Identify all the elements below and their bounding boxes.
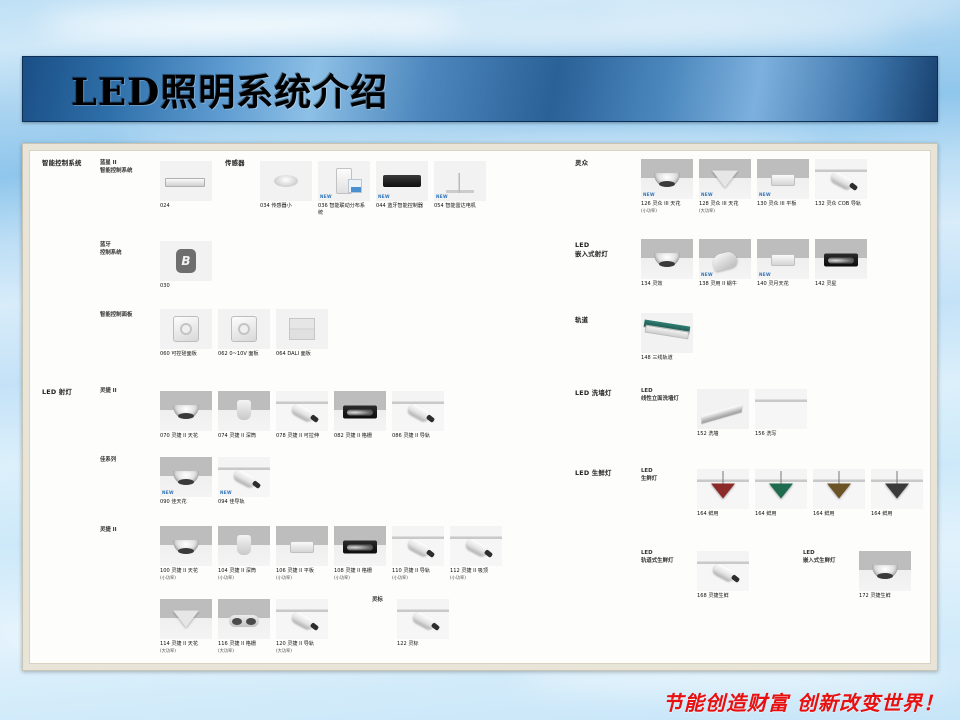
product-thumbnail[interactable] [218, 391, 270, 431]
item-caption: 024 [160, 203, 212, 210]
flat-panel-icon [771, 254, 795, 266]
product-row: 024 [160, 161, 212, 210]
product-thumbnail[interactable] [260, 161, 312, 201]
new-badge: NEW [759, 192, 771, 197]
item-caption: 148 三线轨道 [641, 355, 693, 362]
item-caption: 108 灵捷 II 格栅(小功率) [334, 568, 386, 582]
catalog-item[interactable]: 120 灵捷 II 导轨(大功率) [276, 599, 328, 655]
item-caption: 156 洗写 [755, 431, 807, 438]
downlight-icon [173, 405, 199, 419]
product-row: NEW126 灵众 III 天花(小功率)NEW128 灵众 III 天花(大功… [641, 159, 867, 215]
catalog-item[interactable]: NEW140 灵月天花 [757, 239, 809, 288]
deep-can-icon [237, 535, 251, 555]
catalog-item[interactable]: 070 灵捷 II 天花 [160, 391, 212, 440]
pendant-cord-icon [897, 471, 898, 484]
item-caption: 128 灵众 III 天花(大功率) [699, 201, 751, 215]
footer-slogan: 节能创造财富 创新改变世界！ [663, 687, 944, 716]
item-note: (大功率) [276, 648, 292, 653]
flat-panel-icon [290, 541, 314, 553]
product-thumbnail[interactable] [392, 391, 444, 431]
item-caption: 132 灵众 COB 导轨 [815, 201, 867, 208]
product-thumbnail[interactable]: NEW [434, 161, 486, 201]
product-thumbnail[interactable] [397, 599, 449, 639]
catalog-item[interactable]: 132 灵众 COB 导轨 [815, 159, 867, 215]
item-caption: 100 灵捷 II 天花(小功率) [160, 568, 212, 582]
downlight-icon [173, 471, 199, 485]
catalog-item[interactable]: NEW138 灵用 II 蜗牛 [699, 239, 751, 288]
pendant-lamp-icon [769, 484, 793, 499]
item-caption: 110 灵捷 II 导轨(小功率) [392, 568, 444, 582]
catalog-item[interactable]: 086 灵捷 II 导轨 [392, 391, 444, 440]
catalog-item[interactable]: NEW126 灵众 III 天花(小功率) [641, 159, 693, 215]
item-caption: 106 灵捷 II 平板(小功率) [276, 568, 328, 582]
catalog-item[interactable]: 100 灵捷 II 天花(小功率) [160, 526, 212, 582]
catalog-item[interactable]: 164 鲜用 [755, 469, 807, 518]
catalog-item[interactable]: 152 洗墙 [697, 389, 749, 438]
catalog-item[interactable]: NEW128 灵众 III 天花(大功率) [699, 159, 751, 215]
catalog-item[interactable]: NEW054 智能雷达电机 [434, 161, 486, 217]
item-caption: 064 DALI 面板 [276, 351, 328, 358]
item-note: (大功率) [699, 208, 715, 213]
cloud-decoration [40, 8, 460, 42]
item-caption: 094 佳导轨 [218, 499, 270, 506]
item-caption: 164 鲜用 [755, 511, 807, 518]
catalog-item[interactable]: 122 灵标 [397, 599, 449, 648]
catalog-item[interactable]: 110 灵捷 II 导轨(小功率) [392, 526, 444, 582]
product-thumbnail[interactable] [871, 469, 923, 509]
product-thumbnail[interactable]: NEW [160, 457, 212, 497]
catalog-item[interactable]: NEW094 佳导轨 [218, 457, 270, 506]
track-head-icon [464, 537, 489, 557]
track-head-icon [290, 402, 315, 422]
item-caption: 062 0~10V 面板 [218, 351, 270, 358]
section-label: 智能控制系统 [42, 159, 82, 168]
product-thumbnail[interactable] [334, 526, 386, 566]
track-head-icon [406, 537, 431, 557]
product-row: 164 鲜用164 鲜用164 鲜用164 鲜用 [697, 469, 923, 518]
product-row: 070 灵捷 II 天花074 灵捷 II 深筒078 灵捷 II 可拉伸082… [160, 391, 444, 440]
item-note: (大功率) [218, 648, 234, 653]
product-thumbnail[interactable] [276, 391, 328, 431]
pendant-cord-icon [839, 471, 840, 484]
subsection-label: LED 生鲜灯 [641, 467, 657, 483]
product-thumbnail[interactable] [218, 309, 270, 349]
subsection-label: 智能控制面板 [100, 311, 132, 319]
item-caption: 082 灵捷 II 格栅 [334, 433, 386, 440]
product-thumbnail[interactable] [160, 526, 212, 566]
catalog-item[interactable]: 074 灵捷 II 深筒 [218, 391, 270, 440]
catalog-item[interactable]: 108 灵捷 II 格栅(小功率) [334, 526, 386, 582]
deep-can-icon [237, 400, 251, 420]
pendant-lamp-icon [711, 484, 735, 499]
item-caption: 172 灵捷生鲜 [859, 593, 911, 600]
product-thumbnail[interactable] [160, 161, 212, 201]
cloud-decoration [380, 20, 900, 46]
section-label: LED 射灯 [42, 388, 72, 397]
catalog-left-column: 智能控制系统蓝星 II 智能控制系统024蓝牙 控制系统B030智能控制面板06… [42, 151, 562, 663]
item-caption: 074 灵捷 II 深筒 [218, 433, 270, 440]
section-label: LED 嵌入式射灯 [575, 241, 608, 260]
subsection-label: LED 轨道式生鲜灯 [641, 549, 673, 565]
product-row: B030 [160, 241, 212, 290]
product-row: 134 灵效NEW138 灵用 II 蜗牛NEW140 灵月天花142 灵星 [641, 239, 867, 288]
snail-lamp-icon [711, 250, 738, 271]
item-note: (大功率) [160, 648, 176, 653]
pendant-cord-icon [723, 471, 724, 484]
catalog-item[interactable]: 156 洗写 [755, 389, 807, 438]
item-note: (小功率) [334, 575, 350, 580]
catalog-item[interactable]: 064 DALI 面板 [276, 309, 328, 358]
item-caption: 086 灵捷 II 导轨 [392, 433, 444, 440]
grille-lamp-icon [343, 540, 377, 553]
product-thumbnail[interactable] [334, 391, 386, 431]
screen-icon [348, 179, 362, 193]
item-caption: 078 灵捷 II 可拉伸 [276, 433, 328, 440]
product-row: 034 传感器小NEW036 智能联动分布系统NEW044 蓝牙智能控制器NEW… [260, 161, 486, 217]
product-thumbnail[interactable]: NEW [757, 159, 809, 199]
item-caption: 168 灵捷生鲜 [697, 593, 749, 600]
subsection-label: 蓝牙 控制系统 [100, 241, 122, 257]
subsection-label: LED 线性立面洗墙灯 [641, 387, 679, 403]
cone-lamp-icon [712, 171, 738, 188]
item-caption: 034 传感器小 [260, 203, 312, 210]
grille-lamp-icon [343, 405, 377, 418]
product-row: 152 洗墙156 洗写 [697, 389, 807, 438]
product-thumbnail[interactable] [160, 391, 212, 431]
catalog-item[interactable]: 024 [160, 161, 212, 210]
item-caption: 090 佳天花 [160, 499, 212, 506]
pendant-lamp-icon [827, 484, 851, 499]
catalog-item[interactable]: 168 灵捷生鲜 [697, 551, 749, 600]
new-badge: NEW [436, 194, 448, 199]
new-badge: NEW [162, 490, 174, 495]
product-thumbnail[interactable] [755, 389, 807, 429]
catalog-item[interactable]: 060 可控硅面板 [160, 309, 212, 358]
sensor-icon [274, 175, 298, 187]
catalog-item[interactable]: 114 灵捷 II 天花(大功率) [160, 599, 212, 655]
catalog-item[interactable]: 082 灵捷 II 格栅 [334, 391, 386, 440]
subsection-label: 灵捷 II [100, 387, 117, 395]
item-caption: 112 灵捷 II 吸顶(小功率) [450, 568, 502, 582]
product-thumbnail[interactable] [218, 526, 270, 566]
downlight-icon [654, 253, 680, 267]
cone-lamp-icon [173, 611, 199, 628]
product-thumbnail[interactable] [755, 469, 807, 509]
linear-washer-icon [702, 404, 743, 423]
track-head-icon [711, 562, 736, 582]
knob-icon [180, 323, 192, 335]
new-badge: NEW [759, 272, 771, 277]
catalog-item[interactable]: 142 灵星 [815, 239, 867, 288]
item-caption: 138 灵用 II 蜗牛 [699, 281, 751, 288]
product-thumbnail[interactable] [697, 389, 749, 429]
product-thumbnail[interactable] [276, 309, 328, 349]
catalog-item[interactable]: 034 传感器小 [260, 161, 312, 217]
product-thumbnail[interactable]: NEW [641, 159, 693, 199]
page-title: LED照明系统介绍 [71, 62, 388, 116]
product-thumbnail[interactable]: NEW [757, 239, 809, 279]
product-thumbnail[interactable] [815, 159, 867, 199]
product-row: 122 灵标 [397, 599, 449, 648]
catalog-item[interactable]: 104 灵捷 II 深筒(小功率) [218, 526, 270, 582]
product-thumbnail[interactable] [392, 526, 444, 566]
catalog-item[interactable]: 116 灵捷 II 格栅(大功率) [218, 599, 270, 655]
subsection-label: 佳系列 [100, 456, 116, 464]
product-thumbnail[interactable]: B [160, 241, 212, 281]
controller-box-icon [165, 178, 205, 187]
product-row: NEW090 佳天花NEW094 佳导轨 [160, 457, 270, 506]
cloud-decoration [600, 0, 960, 22]
catalog-sheet: 智能控制系统蓝星 II 智能控制系统024蓝牙 控制系统B030智能控制面板06… [29, 150, 931, 664]
item-caption: 164 鲜用 [871, 511, 923, 518]
product-thumbnail[interactable] [859, 551, 911, 591]
product-thumbnail[interactable] [160, 309, 212, 349]
grille-lamp-icon [824, 253, 858, 266]
new-badge: NEW [643, 192, 655, 197]
product-thumbnail[interactable] [218, 599, 270, 639]
catalog-item[interactable]: NEW036 智能联动分布系统 [318, 161, 370, 217]
product-row: 148 三线轨道 [641, 313, 693, 362]
catalog-item[interactable]: 164 鲜用 [697, 469, 749, 518]
pendant-cord-icon [781, 471, 782, 484]
catalog-item[interactable]: NEW090 佳天花 [160, 457, 212, 506]
subsection-label: LED 嵌入式生鲜灯 [803, 549, 835, 565]
catalog-item[interactable]: 164 鲜用 [813, 469, 865, 518]
product-thumbnail[interactable] [813, 469, 865, 509]
item-note: (小功率) [276, 575, 292, 580]
item-caption: 126 灵众 III 天花(小功率) [641, 201, 693, 215]
new-badge: NEW [701, 192, 713, 197]
subsection-label: 灵标 [372, 596, 383, 604]
subsection-label: 蓝星 II 智能控制系统 [100, 159, 132, 175]
product-row: 100 灵捷 II 天花(小功率)104 灵捷 II 深筒(小功率)106 灵捷… [160, 526, 502, 582]
product-thumbnail[interactable] [815, 239, 867, 279]
dali-panel-icon [289, 318, 315, 340]
item-caption: 114 灵捷 II 天花(大功率) [160, 641, 212, 655]
item-caption: 152 洗墙 [697, 431, 749, 438]
item-caption: 104 灵捷 II 深筒(小功率) [218, 568, 270, 582]
product-thumbnail[interactable] [276, 526, 328, 566]
item-note: (小功率) [450, 575, 466, 580]
new-badge: NEW [378, 194, 390, 199]
catalog-item[interactable]: 164 鲜用 [871, 469, 923, 518]
catalog-item[interactable]: B030 [160, 241, 212, 290]
knob-icon [238, 323, 250, 335]
product-thumbnail[interactable] [450, 526, 502, 566]
item-caption: 122 灵标 [397, 641, 449, 648]
item-caption: 030 [160, 283, 212, 290]
product-thumbnail[interactable]: NEW [699, 239, 751, 279]
antenna-icon [446, 173, 474, 193]
section-label: 灵众 [575, 159, 588, 168]
twin-grille-icon [229, 615, 259, 627]
catalog-item[interactable]: 062 0~10V 面板 [218, 309, 270, 358]
item-caption: 164 鲜用 [813, 511, 865, 518]
downlight-icon [173, 540, 199, 554]
product-thumbnail[interactable] [276, 599, 328, 639]
flat-panel-icon [771, 174, 795, 186]
new-badge: NEW [320, 194, 332, 199]
catalog-item[interactable]: 106 灵捷 II 平板(小功率) [276, 526, 328, 582]
item-note: (小功率) [160, 575, 176, 580]
section-label: LED 生鲜灯 [575, 469, 612, 478]
item-note: (小功率) [392, 575, 408, 580]
track-head-icon [406, 402, 431, 422]
subsection-label: 灵捷 II [100, 526, 117, 534]
catalog-item[interactable]: 172 灵捷生鲜 [859, 551, 911, 600]
product-row: 114 灵捷 II 天花(大功率)116 灵捷 II 格栅(大功率)120 灵捷… [160, 599, 328, 655]
item-caption: 116 灵捷 II 格栅(大功率) [218, 641, 270, 655]
item-caption: 142 灵星 [815, 281, 867, 288]
product-thumbnail[interactable] [641, 239, 693, 279]
item-caption: 044 蓝牙智能控制器 [376, 203, 428, 210]
catalog-item[interactable]: NEW130 灵众 III 平板 [757, 159, 809, 215]
product-thumbnail[interactable]: NEW [376, 161, 428, 201]
product-row: 060 可控硅面板062 0~10V 面板064 DALI 面板 [160, 309, 328, 358]
product-thumbnail[interactable]: NEW [318, 161, 370, 201]
item-caption: 120 灵捷 II 导轨(大功率) [276, 641, 328, 655]
item-caption: 054 智能雷达电机 [434, 203, 486, 210]
downlight-icon [654, 173, 680, 187]
item-caption: 140 灵月天花 [757, 281, 809, 288]
product-thumbnail[interactable] [697, 469, 749, 509]
product-thumbnail[interactable] [160, 599, 212, 639]
item-caption: 134 灵效 [641, 281, 693, 288]
catalog-item[interactable]: NEW044 蓝牙智能控制器 [376, 161, 428, 217]
controller-bar-icon [383, 175, 421, 187]
item-caption: 164 鲜用 [697, 511, 749, 518]
new-badge: NEW [701, 272, 713, 277]
downlight-icon [872, 565, 898, 579]
section-label: 传感器 [225, 159, 245, 168]
product-thumbnail[interactable]: NEW [218, 457, 270, 497]
catalog-sheet-frame: 智能控制系统蓝星 II 智能控制系统024蓝牙 控制系统B030智能控制面板06… [22, 143, 938, 671]
product-row: 172 灵捷生鲜 [859, 551, 911, 600]
catalog-right-column: 灵众NEW126 灵众 III 天花(小功率)NEW128 灵众 III 天花(… [575, 151, 925, 663]
pendant-lamp-icon [885, 484, 909, 499]
product-row: 168 灵捷生鲜 [697, 551, 749, 600]
track-head-icon [290, 610, 315, 630]
track-head-icon [232, 468, 257, 488]
item-caption: 070 灵捷 II 天花 [160, 433, 212, 440]
product-thumbnail[interactable] [697, 551, 749, 591]
item-note: (小功率) [641, 208, 657, 213]
catalog-item[interactable]: 134 灵效 [641, 239, 693, 288]
title-banner: LED照明系统介绍 [22, 56, 938, 122]
catalog-item[interactable]: 112 灵捷 II 吸顶(小功率) [450, 526, 502, 582]
catalog-item[interactable]: 078 灵捷 II 可拉伸 [276, 391, 328, 440]
new-badge: NEW [220, 490, 232, 495]
product-thumbnail[interactable] [641, 313, 693, 353]
item-caption: 060 可控硅面板 [160, 351, 212, 358]
item-caption: 036 智能联动分布系统 [318, 203, 370, 217]
bluetooth-icon: B [176, 249, 196, 273]
catalog-item[interactable]: 148 三线轨道 [641, 313, 693, 362]
track-head-icon [829, 170, 854, 190]
track-head-icon [411, 610, 436, 630]
item-caption: 130 灵众 III 平板 [757, 201, 809, 208]
section-label: 轨道 [575, 316, 588, 325]
item-note: (小功率) [218, 575, 234, 580]
product-thumbnail[interactable]: NEW [699, 159, 751, 199]
section-label: LED 洗墙灯 [575, 389, 612, 398]
